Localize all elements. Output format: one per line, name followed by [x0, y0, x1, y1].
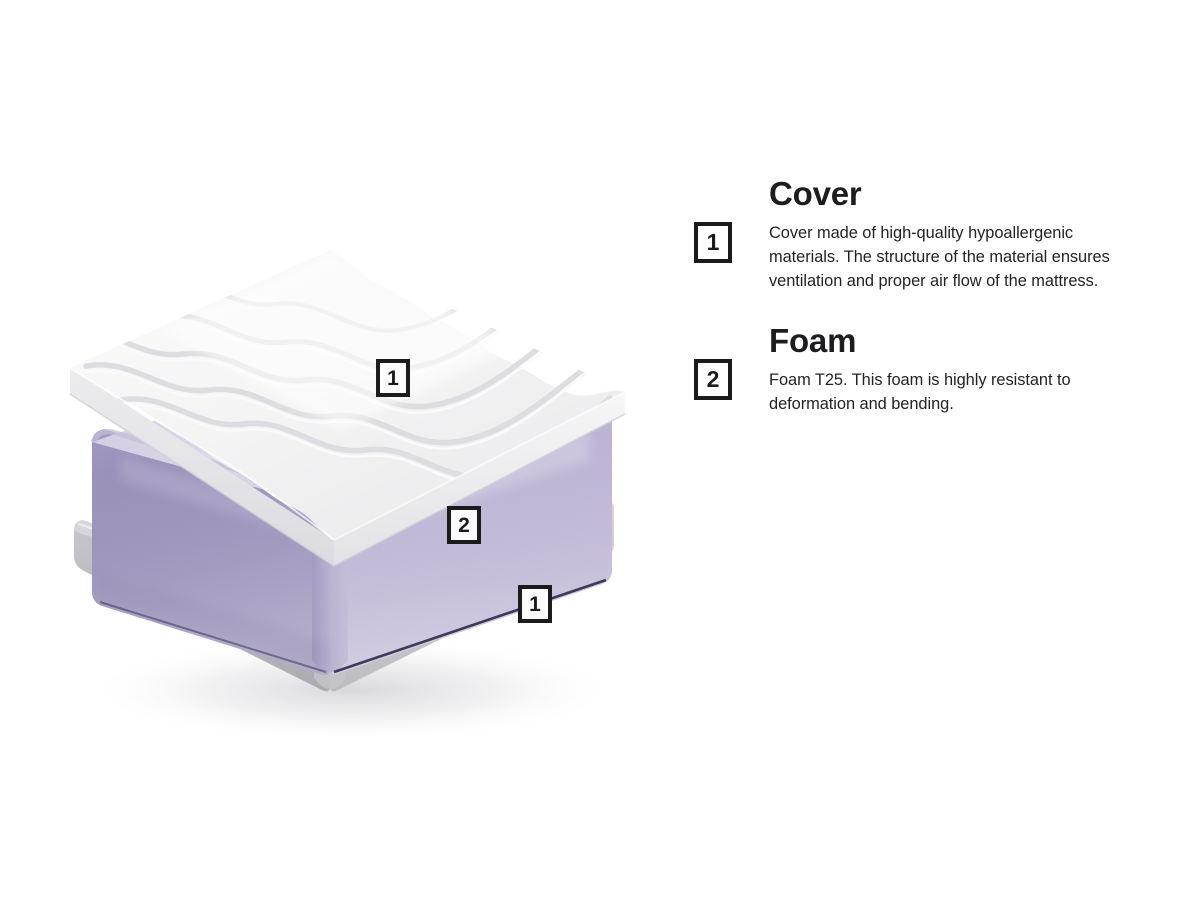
legend-body-cover: Cover made of high-quality hypoallergeni…: [769, 222, 1124, 294]
mattress-illustration: 1 2 1: [0, 0, 680, 899]
legend-text-cover: Cover Cover made of high-quality hypoall…: [769, 176, 1124, 293]
callout-marker-cover[interactable]: 1: [376, 359, 410, 397]
legend-badge-1: 1: [694, 222, 732, 263]
page-root: 1 2 1 1 Cover Cover made of high-quality…: [0, 0, 1200, 899]
legend-title-foam: Foam: [769, 323, 1124, 359]
callout-marker-base[interactable]: 1: [518, 585, 552, 623]
legend-title-cover: Cover: [769, 176, 1124, 212]
callout-marker-foam[interactable]: 2: [447, 506, 481, 544]
legend-item-foam: 2 Foam Foam T25. This foam is highly res…: [694, 323, 1164, 417]
legend-panel: 1 Cover Cover made of high-quality hypoa…: [694, 176, 1164, 447]
legend-item-cover: 1 Cover Cover made of high-quality hypoa…: [694, 176, 1164, 293]
legend-text-foam: Foam Foam T25. This foam is highly resis…: [769, 323, 1124, 417]
legend-body-foam: Foam T25. This foam is highly resistant …: [769, 369, 1124, 417]
legend-badge-2: 2: [694, 359, 732, 400]
